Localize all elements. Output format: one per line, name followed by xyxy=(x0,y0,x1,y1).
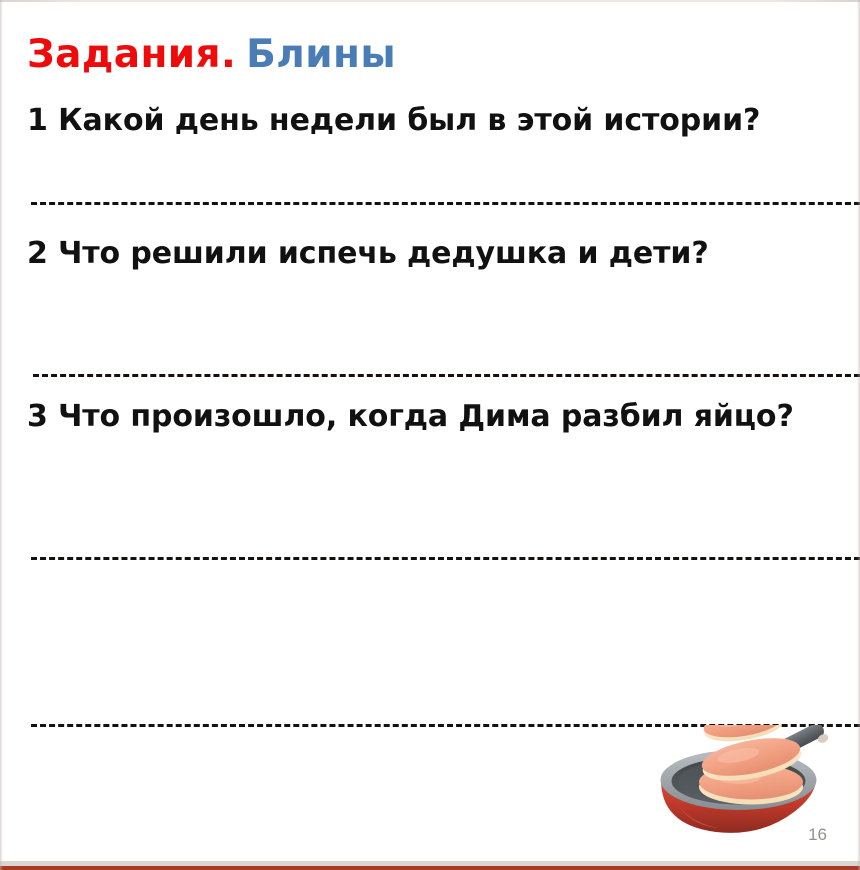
title-secondary: Блины xyxy=(246,32,396,77)
question-2: 2 Что решили испечь дедушка и дети? xyxy=(27,236,709,271)
question-3: 3 Что произошло, когда Дима разбил яйцо? xyxy=(27,399,794,434)
page-number: 16 xyxy=(808,825,827,845)
title-primary: Задания. xyxy=(27,32,236,77)
slide-left-edge xyxy=(0,0,3,870)
page-title: Задания.Блины xyxy=(27,32,396,77)
slide-bottom-rule xyxy=(0,866,860,870)
answer-line-3 xyxy=(31,557,860,560)
slide-canvas: Задания.Блины 1 Какой день недели был в … xyxy=(0,0,860,870)
answer-line-2 xyxy=(33,374,860,377)
frying-pan-icon xyxy=(655,725,860,855)
answer-line-1 xyxy=(31,202,860,205)
question-1: 1 Какой день недели был в этой истории? xyxy=(27,103,760,138)
